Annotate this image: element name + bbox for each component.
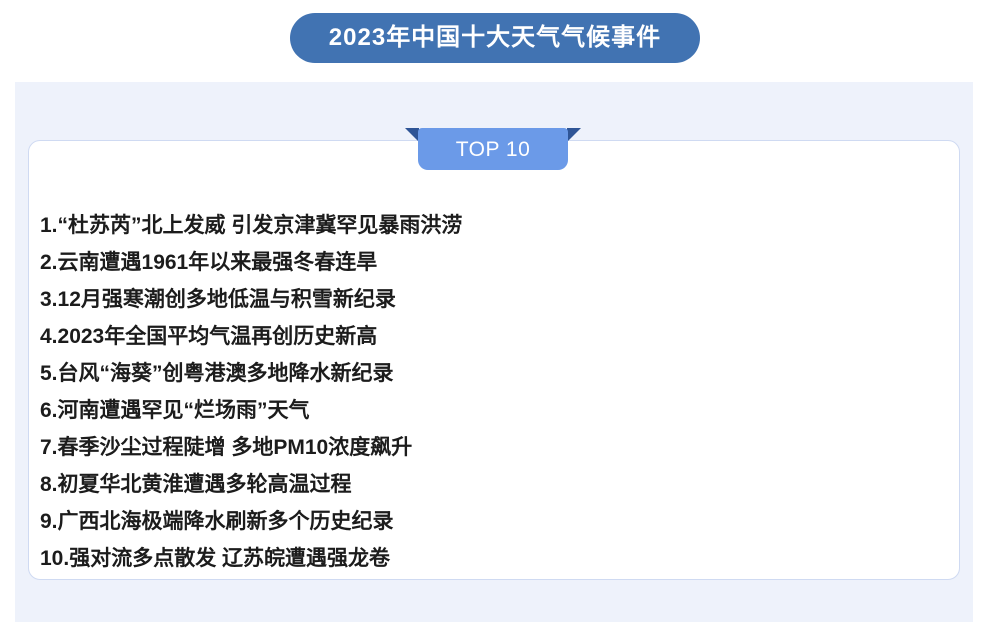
list-item: 6.河南遭遇罕见“烂场雨”天气 [40,392,940,429]
list-item: 10.强对流多点散发 辽苏皖遭遇强龙卷 [40,540,940,577]
event-list: 1.“杜苏芮”北上发威 引发京津冀罕见暴雨洪涝 2.云南遭遇1961年以来最强冬… [40,207,940,577]
ribbon-right-wing-icon [567,128,581,142]
list-item: 9.广西北海极端降水刷新多个历史纪录 [40,503,940,540]
list-item: 2.云南遭遇1961年以来最强冬春连旱 [40,244,940,281]
list-item: 8.初夏华北黄淮遭遇多轮高温过程 [40,466,940,503]
ribbon-left-wing-icon [405,128,419,142]
list-item: 4.2023年全国平均气温再创历史新高 [40,318,940,355]
ribbon-body: TOP 10 [418,128,568,170]
page-title: 2023年中国十大天气气候事件 [329,26,661,50]
ribbon-label: TOP 10 [456,139,531,160]
list-item: 7.春季沙尘过程陡增 多地PM10浓度飙升 [40,429,940,466]
list-item: 5.台风“海葵”创粤港澳多地降水新纪录 [40,355,940,392]
list-item: 3.12月强寒潮创多地低温与积雪新纪录 [40,281,940,318]
list-item: 1.“杜苏芮”北上发威 引发京津冀罕见暴雨洪涝 [40,207,940,244]
page-header-pill: 2023年中国十大天气气候事件 [290,13,700,63]
top-10-ribbon: TOP 10 [405,128,581,170]
